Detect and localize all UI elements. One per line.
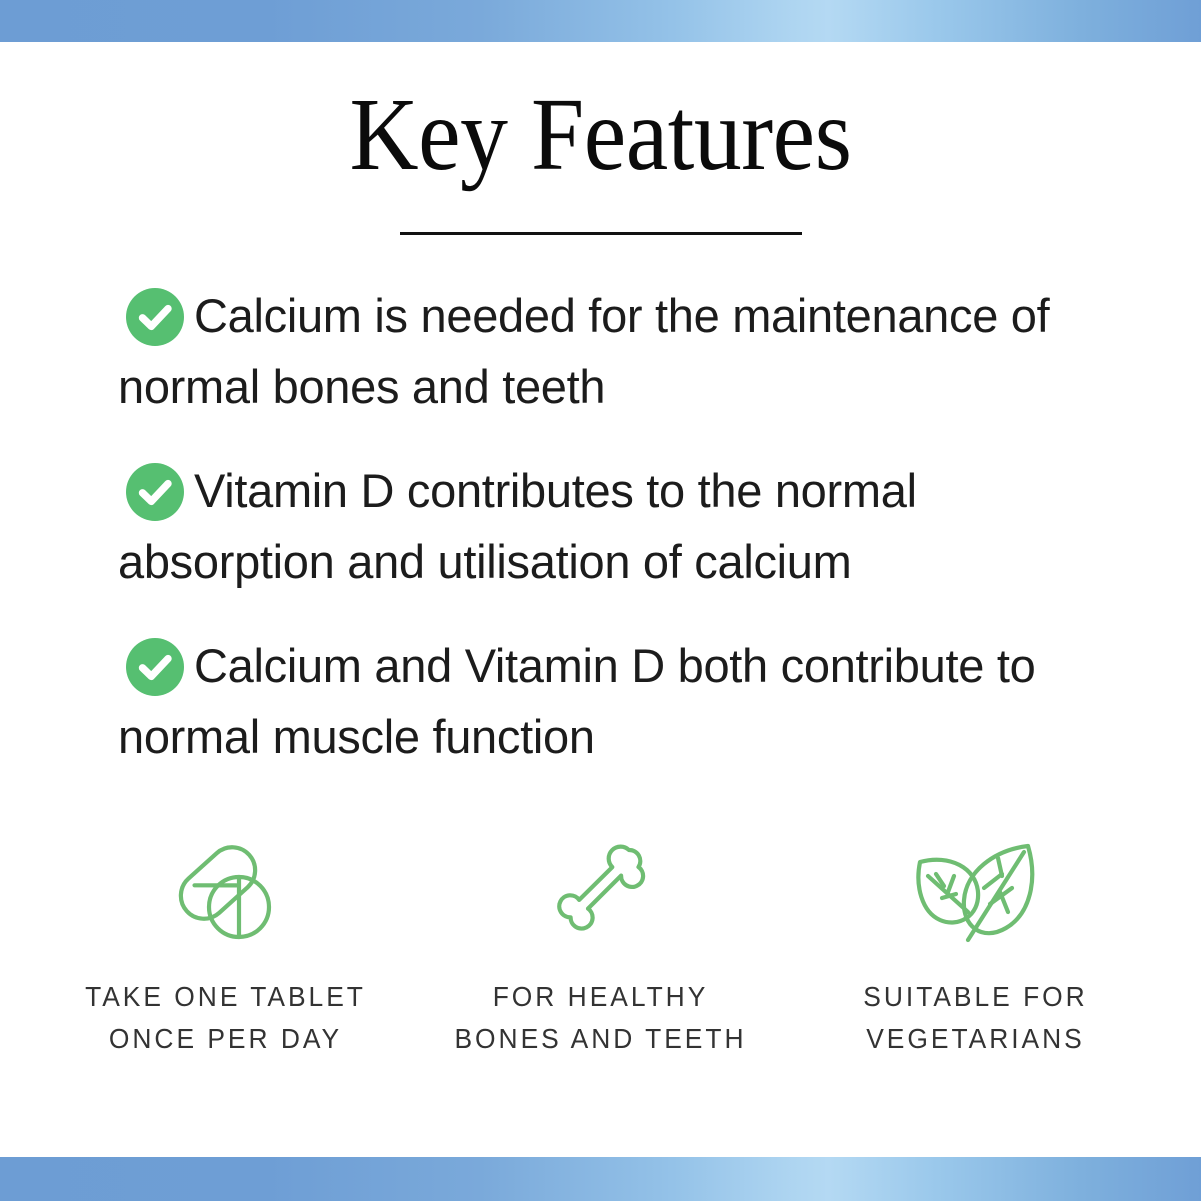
check-circle-icon <box>126 638 184 696</box>
benefit-caption-line1: SUITABLE FOR <box>796 976 1156 1018</box>
benefit-caption-line2: VEGETARIANS <box>796 1018 1156 1060</box>
bone-icon <box>413 832 788 950</box>
key-features-panel: Key Features Calcium is needed for the m… <box>0 0 1201 1201</box>
title-divider <box>400 232 802 235</box>
check-circle-icon <box>126 463 184 521</box>
top-accent-band <box>0 0 1201 42</box>
bottom-accent-band <box>0 1157 1201 1201</box>
benefit-suitable-vegetarians: SUITABLE FOR VEGETARIANS <box>788 832 1163 1060</box>
title-block: Key Features <box>0 42 1201 235</box>
feature-text: Calcium and Vitamin D both contribute to… <box>118 631 1105 772</box>
feature-text: Calcium is needed for the maintenance of… <box>118 281 1105 422</box>
benefit-caption: TAKE ONE TABLET ONCE PER DAY <box>46 976 406 1060</box>
benefit-caption-line2: BONES AND TEETH <box>421 1018 781 1060</box>
benefits-row: TAKE ONE TABLET ONCE PER DAY FOR HEALTHY… <box>0 832 1201 1060</box>
benefit-healthy-bones: FOR HEALTHY BONES AND TEETH <box>413 832 788 1060</box>
check-circle-icon <box>126 288 184 346</box>
feature-item: Calcium is needed for the maintenance of… <box>118 281 1105 422</box>
benefit-caption-line1: FOR HEALTHY <box>421 976 781 1018</box>
tablets-icon <box>38 832 413 950</box>
feature-item: Vitamin D contributes to the normal abso… <box>118 456 1105 597</box>
benefit-take-one-tablet: TAKE ONE TABLET ONCE PER DAY <box>38 832 413 1060</box>
page-title: Key Features <box>48 80 1153 190</box>
feature-text: Vitamin D contributes to the normal abso… <box>118 456 1105 597</box>
benefit-caption: SUITABLE FOR VEGETARIANS <box>796 976 1156 1060</box>
benefit-caption-line2: ONCE PER DAY <box>46 1018 406 1060</box>
feature-item: Calcium and Vitamin D both contribute to… <box>118 631 1105 772</box>
content-area: Key Features Calcium is needed for the m… <box>0 42 1201 1157</box>
leaves-icon <box>788 832 1163 950</box>
benefit-caption: FOR HEALTHY BONES AND TEETH <box>421 976 781 1060</box>
benefit-caption-line1: TAKE ONE TABLET <box>46 976 406 1018</box>
features-list: Calcium is needed for the maintenance of… <box>0 281 1201 772</box>
